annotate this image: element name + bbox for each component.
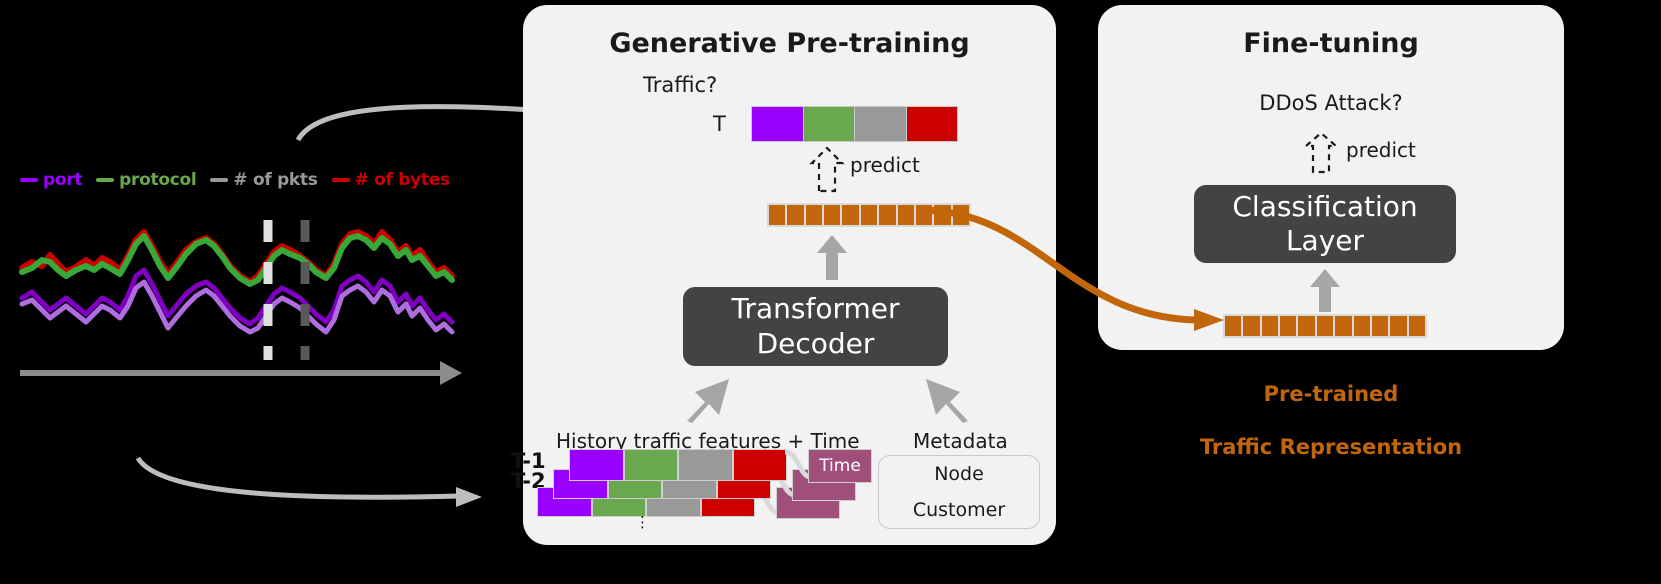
legend-item-bytes: # of bytes: [332, 170, 450, 190]
legend-label-bytes: # of bytes: [355, 170, 450, 190]
finetune-token-cell: [1390, 316, 1406, 336]
history-row1-time-tag: Time: [808, 449, 872, 483]
caption-line-1: Pre-trained: [1123, 381, 1539, 407]
classification-layer-line2: Layer: [1232, 224, 1417, 258]
legend-item-port: port: [20, 170, 82, 190]
history-row1-seg-protocol: [624, 449, 679, 481]
legend-label-protocol: protocol: [119, 170, 196, 190]
legend-item-pkts: # of pkts: [210, 170, 317, 190]
arrow-representation-transfer: [918, 200, 1238, 335]
timeseries-legend: port protocol # of pkts # of bytes: [20, 163, 480, 197]
legend-dash-bytes: [332, 178, 350, 182]
arrow-to-pretraining-bottom: [130, 440, 500, 510]
finetuning-question: DDoS Attack?: [1098, 91, 1564, 115]
metadata-item-node: Node: [934, 463, 984, 485]
pretrain-token-cell: [824, 205, 840, 225]
timestep-label-T: T: [713, 112, 726, 136]
finetune-token-cell: [1354, 316, 1370, 336]
pretraining-title: Generative Pre-training: [523, 28, 1056, 59]
metadata-label: Metadata: [913, 429, 1008, 453]
finetune-token-cell: [1243, 316, 1259, 336]
pretrain-token-cell: [879, 205, 895, 225]
pretrain-token-cell: [842, 205, 858, 225]
transformer-decoder-line1: Transformer: [731, 292, 899, 326]
pretrained-representation-caption: Pre-trained Traffic Representation: [1123, 355, 1539, 486]
legend-label-pkts: # of pkts: [233, 170, 317, 190]
finetune-token-cell: [1372, 316, 1388, 336]
pretrain-token-cell: [861, 205, 877, 225]
predict-label-finetuning: predict: [1346, 138, 1416, 162]
history-row1-seg-bytes: [733, 449, 788, 481]
target-seg-pkts: [855, 107, 907, 141]
arrow-metadata-to-decoder: [918, 371, 974, 423]
target-seg-protocol: [804, 107, 856, 141]
legend-item-protocol: protocol: [96, 170, 196, 190]
history-row-1: [569, 449, 787, 481]
classification-layer-line1: Classification: [1232, 190, 1417, 224]
legend-dash-port: [20, 178, 38, 182]
target-feature-bar: [751, 106, 958, 142]
timeseries-plot: [0, 210, 470, 360]
arrow-history-to-decoder: [681, 371, 737, 423]
finetune-token-cell: [1317, 316, 1333, 336]
pretrain-token-cell: [787, 205, 803, 225]
finetune-token-cell: [1262, 316, 1278, 336]
finetuning-representation-tokens: [1223, 314, 1427, 338]
finetune-token-cell: [1298, 316, 1314, 336]
target-seg-bytes: [907, 107, 958, 141]
target-seg-port: [752, 107, 804, 141]
predict-dashed-arrow-up: [807, 145, 847, 193]
finetune-token-cell: [1280, 316, 1296, 336]
metadata-box: Node Customer: [878, 455, 1040, 529]
finetune-token-cell: [1409, 316, 1425, 336]
transformer-decoder-box: Transformer Decoder: [683, 287, 948, 366]
legend-label-port: port: [43, 170, 82, 190]
pretrain-token-cell: [769, 205, 785, 225]
pretrain-token-cell: [806, 205, 822, 225]
finetuning-title: Fine-tuning: [1098, 28, 1564, 59]
transformer-decoder-line2: Decoder: [731, 327, 899, 361]
arrow-tokens-to-classifier: [1308, 267, 1342, 313]
legend-dash-protocol: [96, 178, 114, 182]
time-axis-arrow: [0, 355, 470, 395]
legend-dash-pkts: [210, 178, 228, 182]
history-rows-ellipsis: ⋮: [635, 513, 652, 531]
history-row1-seg-port: [569, 449, 624, 481]
metadata-item-customer: Customer: [913, 499, 1005, 521]
finetune-token-cell: [1335, 316, 1351, 336]
trace-port-light: [22, 282, 452, 332]
caption-line-2: Traffic Representation: [1123, 434, 1539, 460]
predict-dashed-arrow-up-finetuning: [1301, 130, 1341, 174]
pretraining-question: Traffic?: [643, 73, 1063, 97]
predict-label-pretraining: predict: [850, 153, 920, 177]
diagram-canvas: port protocol # of pkts # of bytes: [0, 0, 1661, 584]
pretrain-token-cell: [898, 205, 914, 225]
history-row1-seg-pkts: [678, 449, 733, 481]
arrow-decoder-to-tokens: [815, 233, 849, 281]
